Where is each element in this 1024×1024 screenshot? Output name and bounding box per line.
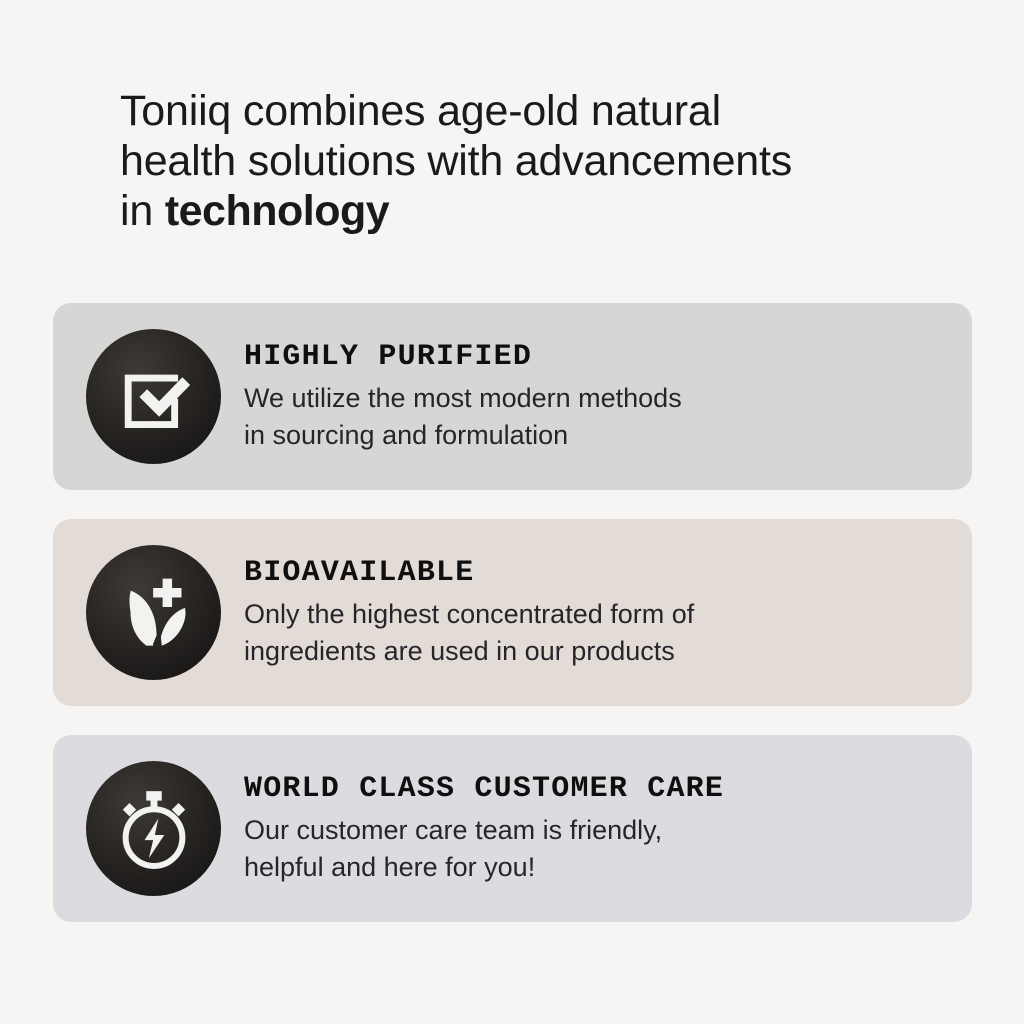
- card-title: HIGHLY PURIFIED: [244, 340, 948, 374]
- page-headline: Toniiq combines age-old natural health s…: [120, 86, 880, 236]
- card-description-line-2: in sourcing and formulation: [244, 417, 948, 454]
- card-description-line-1: We utilize the most modern methods: [244, 380, 948, 417]
- card-body: WORLD CLASS CUSTOMER CARE Our customer c…: [244, 772, 972, 886]
- feature-card-world-class-customer-care: WORLD CLASS CUSTOMER CARE Our customer c…: [53, 735, 972, 922]
- card-title: BIOAVAILABLE: [244, 556, 948, 590]
- card-description: We utilize the most modern methods in so…: [244, 380, 948, 454]
- card-description: Only the highest concentrated form of in…: [244, 596, 948, 670]
- card-description-line-2: ingredients are used in our products: [244, 633, 948, 670]
- stopwatch-bolt-icon: [86, 761, 221, 896]
- card-description: Our customer care team is friendly, help…: [244, 812, 948, 886]
- card-description-line-1: Only the highest concentrated form of: [244, 596, 948, 633]
- card-body: HIGHLY PURIFIED We utilize the most mode…: [244, 340, 972, 454]
- feature-card-list: HIGHLY PURIFIED We utilize the most mode…: [53, 303, 972, 922]
- feature-card-highly-purified: HIGHLY PURIFIED We utilize the most mode…: [53, 303, 972, 490]
- card-description-line-2: helpful and here for you!: [244, 849, 948, 886]
- card-body: BIOAVAILABLE Only the highest concentrat…: [244, 556, 972, 670]
- card-title: WORLD CLASS CUSTOMER CARE: [244, 772, 948, 806]
- headline-emphasis-technology: technology: [165, 187, 389, 235]
- card-description-line-1: Our customer care team is friendly,: [244, 812, 948, 849]
- leaf-plus-icon: [86, 545, 221, 680]
- feature-card-bioavailable: BIOAVAILABLE Only the highest concentrat…: [53, 519, 972, 706]
- headline-line-1: Toniiq combines age-old natural: [120, 86, 880, 136]
- headline-line-3: in technology: [120, 186, 880, 236]
- headline-line-3-prefix: in: [120, 187, 165, 235]
- checkbox-check-icon: [86, 329, 221, 464]
- headline-line-2: health solutions with advancements: [120, 136, 880, 186]
